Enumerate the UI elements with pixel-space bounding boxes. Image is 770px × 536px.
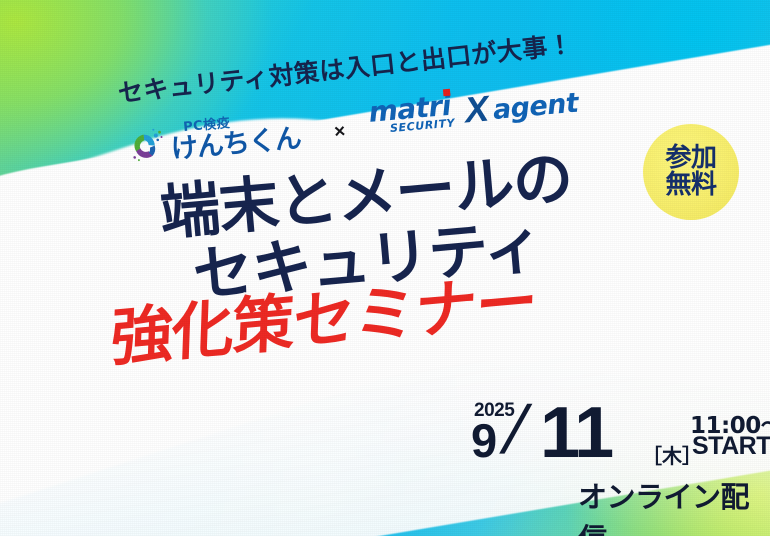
headline-line-3: 強化策セミナー xyxy=(110,270,538,370)
event-day: 11 xyxy=(540,397,612,469)
event-month: 9 xyxy=(471,417,497,464)
seminar-banner: セキュリティ対策は入口と出口が大事！ xyxy=(0,0,770,536)
banner-content: セキュリティ対策は入口と出口が大事！ xyxy=(0,0,770,536)
free-participation-badge: 参加 無料 xyxy=(643,124,739,220)
event-delivery-mode: オンライン配信 xyxy=(578,474,760,536)
event-date-block: 2025 9 / 11 ［木］ 11:00〜 START オンライン配信 xyxy=(450,388,760,518)
event-start-label: START xyxy=(692,432,770,461)
badge-line-2: 無料 xyxy=(665,172,716,199)
badge-line-1: 参加 xyxy=(665,145,716,172)
